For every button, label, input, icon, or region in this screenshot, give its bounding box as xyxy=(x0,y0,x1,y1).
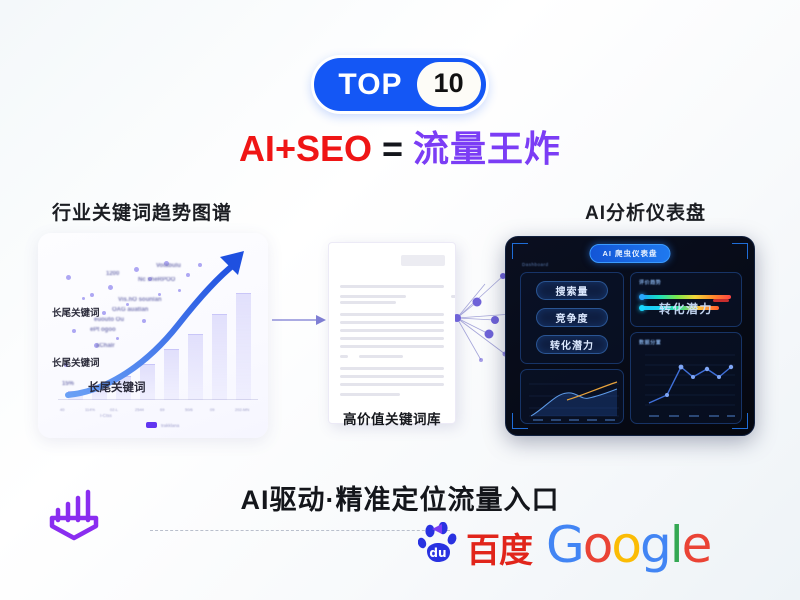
doc-line xyxy=(359,355,403,358)
flow-arrow-small-icon xyxy=(430,522,446,536)
metric-pill-competition[interactable]: 竞争度 xyxy=(536,308,608,327)
top-badge-container: TOP 10 xyxy=(0,55,800,114)
doc-header-chip xyxy=(401,255,445,266)
chart-dot xyxy=(108,285,113,290)
chart-ghost-label: Nc sheRPOO xyxy=(138,277,175,283)
dashboard-subtitle: Dashboard xyxy=(522,262,549,267)
dash-corner-tr-icon xyxy=(732,243,748,259)
doc-line xyxy=(340,383,444,386)
chart-tick-label: 202-MN xyxy=(235,407,249,412)
keyword-label-2: 长尾关键词 xyxy=(52,355,100,369)
chart-tick-label: 2544 xyxy=(135,407,144,412)
chart-dot xyxy=(102,311,106,315)
chart-dot xyxy=(126,303,129,306)
google-letter-o1: o xyxy=(583,520,612,570)
page-title: AI+SEO=流量王炸 xyxy=(0,128,800,169)
title-operator: = xyxy=(382,128,403,169)
title-left-term: AI+SEO xyxy=(239,128,372,169)
chart-dot xyxy=(142,319,146,323)
doc-line xyxy=(340,321,444,324)
chart-tick-label: 09 xyxy=(210,407,214,412)
search-engine-logos: du 百度 G o o g l e xyxy=(418,520,710,570)
area-chart xyxy=(521,370,625,425)
chart-dot xyxy=(72,329,76,333)
google-letter-l: l xyxy=(670,520,682,570)
trend-arrow-icon xyxy=(38,233,268,438)
doc-line xyxy=(340,393,400,396)
line-chart-panel: 数据分置 xyxy=(630,332,742,424)
keyword-document-card xyxy=(328,242,456,424)
chart-dot xyxy=(82,297,85,300)
doc-line xyxy=(340,313,444,316)
gauge-overlay-label: 转化潜力 xyxy=(630,300,742,317)
section-heading-dashboard: AI分析仪表盘 xyxy=(585,198,706,225)
keyword-label-3: 长尾关键词 xyxy=(88,379,146,395)
top-rank-badge: TOP 10 xyxy=(311,55,488,114)
chart-ghost-label: Volabulu xyxy=(156,263,181,269)
doc-line xyxy=(340,301,396,304)
dash-corner-tl-icon xyxy=(512,243,528,259)
trend-chart-plot: VolabuluNc sheRPOOVis.hO sounlanOAG auat… xyxy=(38,233,268,438)
chart-tick-label: 114% xyxy=(85,407,95,412)
doc-line xyxy=(340,355,348,358)
area-chart-panel xyxy=(520,369,624,424)
metric-pills-panel: 搜索量 竞争度 转化潜力 xyxy=(520,272,624,364)
bottom-tagline: AI驱动·精准定位流量入口 xyxy=(0,478,800,517)
doc-line xyxy=(340,375,444,378)
doc-line xyxy=(340,337,444,340)
ai-dashboard-panel: AI 爬虫仪表盘 Dashboard 搜索量 竞争度 转化潜力 评价趋势 转化潜… xyxy=(505,236,755,436)
chart-x-caption: I-Ctss xyxy=(100,413,112,418)
chart-tick-label: 69 xyxy=(160,407,164,412)
google-letter-o2: o xyxy=(611,520,640,570)
chart-ghost-label: 15% xyxy=(62,381,74,387)
title-right-term: 流量王炸 xyxy=(413,128,561,169)
baidu-logo-text: 百度 xyxy=(466,534,532,568)
metric-pill-search-volume[interactable]: 搜索量 xyxy=(536,281,608,300)
chart-tick-label: 02-L xyxy=(110,407,118,412)
doc-line xyxy=(340,285,444,288)
dashboard-header-badge: AI 爬虫仪表盘 xyxy=(589,244,670,263)
chart-dot xyxy=(116,337,119,340)
legend-swatch-icon xyxy=(146,422,157,428)
chart-dot xyxy=(178,289,181,292)
google-logo: G o o g l e xyxy=(546,520,710,570)
doc-line xyxy=(340,345,444,348)
keyword-trend-card: VolabuluNc sheRPOOVis.hO sounlanOAG auat… xyxy=(38,233,268,438)
keyword-label-1: 长尾关键词 xyxy=(52,305,100,319)
chart-dot xyxy=(186,273,190,277)
baidu-du-text: du xyxy=(429,546,446,560)
chart-dot xyxy=(134,267,139,272)
chart-ghost-label: ePt ogoo xyxy=(90,327,116,333)
chart-ghost-label: aChalr xyxy=(96,343,115,349)
metric-pill-conversion-potential[interactable]: 转化潜力 xyxy=(536,335,608,354)
legend-label: trakklana xyxy=(161,423,179,428)
doc-line xyxy=(340,367,444,370)
line-chart xyxy=(631,333,743,425)
chart-tick-label: 50/6 xyxy=(185,407,193,412)
top-badge-number: 10 xyxy=(417,62,481,107)
doc-card-caption: 高价值关键词库 xyxy=(328,408,456,428)
chart-ghost-label: Vis.hO sounlan xyxy=(118,297,162,303)
chart-ghost-label: 1200 xyxy=(106,271,119,277)
section-heading-trend: 行业关键词趋势图谱 xyxy=(52,198,232,225)
gauge-panel-caption: 评价趋势 xyxy=(639,279,661,286)
top-badge-label: TOP xyxy=(338,70,416,100)
chart-dot xyxy=(198,263,202,267)
doc-line xyxy=(340,329,444,332)
chart-legend: trakklana xyxy=(146,422,179,428)
bottom-divider xyxy=(150,530,450,531)
chart-tick-label: 40 xyxy=(60,407,64,412)
doc-line xyxy=(340,295,406,298)
google-letter-e: e xyxy=(682,520,711,570)
flow-arrow-icon xyxy=(272,312,328,328)
chart-dot xyxy=(90,293,94,297)
google-letter-g2: g xyxy=(640,520,670,570)
chart-dot xyxy=(158,293,161,296)
chart-dot xyxy=(66,275,71,280)
chart-ghost-label: OAG auatlan xyxy=(112,307,148,313)
google-letter-g1: G xyxy=(546,520,583,570)
